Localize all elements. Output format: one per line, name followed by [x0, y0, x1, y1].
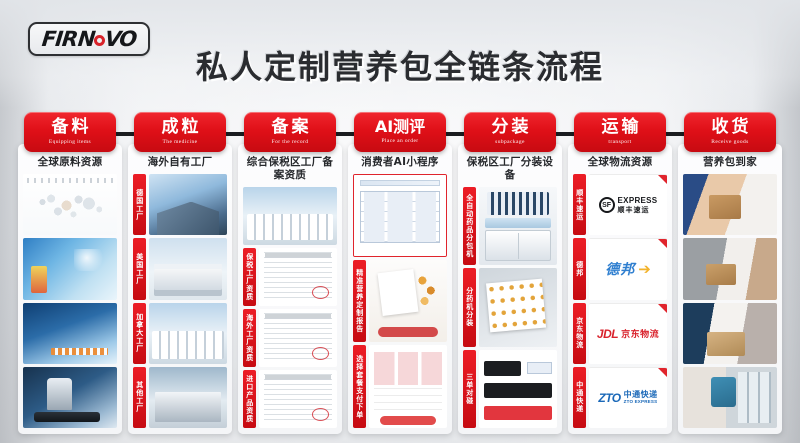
step-badge-6[interactable]: 运输transport	[574, 112, 666, 152]
step-label-cn: 成粒	[159, 119, 202, 136]
card-title: 综合保税区工厂备案资质	[243, 156, 337, 182]
report-sheet	[377, 269, 418, 316]
tile-row: 进口产品资质	[243, 370, 337, 428]
three-order-matching-diagram	[479, 350, 557, 428]
capsules	[414, 268, 442, 318]
tile-row	[683, 238, 777, 299]
step-label-en: Receive goods	[711, 140, 748, 146]
step-label-en: transport	[608, 140, 631, 146]
card-body: 顺丰速运SFEXPRESS顺丰速运德邦德邦➔京东物流JDL京东物流中通快递ZTO…	[573, 174, 667, 428]
card-body: 保税工厂资质海外工厂资质进口产品资质	[243, 187, 337, 428]
automatic-packing-machine	[479, 187, 557, 265]
page-title: 私人定制营养包全链条流程	[0, 42, 800, 88]
tile-row: 德国工厂	[133, 174, 227, 235]
app-flow-boxes	[360, 191, 441, 243]
map-regions	[27, 180, 113, 229]
app-top-bar	[360, 180, 441, 186]
arrow-icon: ➔	[638, 260, 651, 278]
vertical-tab-label[interactable]: 精准营养定制报告	[353, 260, 366, 343]
step-card-7: 营养包到家	[678, 144, 782, 434]
deppon-cn-label: 德邦	[605, 259, 635, 279]
tile-row: 全自动药品分包机	[463, 187, 557, 265]
tile-row	[23, 238, 117, 299]
vertical-tab-label[interactable]: 选择套餐支付下单	[353, 345, 366, 428]
tile-row: 选择套餐支付下单	[353, 345, 447, 428]
step-label-cn: 备料	[49, 119, 92, 136]
zto-express-logo: ZTO中通快递ZTO EXPRESS	[589, 367, 667, 428]
flow-box-3	[484, 383, 553, 399]
delivery-photo-3	[683, 303, 777, 364]
delivery-photo-2	[683, 238, 777, 299]
machine-canister-grid	[487, 192, 549, 215]
lab-pipette-photo	[23, 303, 117, 364]
tile-row	[683, 174, 777, 235]
step-card-1: 全球原料资源	[18, 144, 122, 434]
tile-row: 加拿大工厂	[133, 303, 227, 364]
tile-row	[243, 187, 337, 245]
jdl-en-label: JDL	[597, 327, 618, 341]
canada-factory	[149, 303, 227, 364]
bonded-factory-certificate	[259, 248, 337, 306]
step-card-5: 保税区工厂分装设备全自动药品分包机分药机分装三单对碰	[458, 144, 562, 434]
germany-factory	[149, 174, 227, 235]
sf-mark-icon: SF	[599, 197, 615, 213]
vertical-tab-label[interactable]: 德国工厂	[133, 174, 146, 235]
pipeline-step-3: 备案For the record综合保税区工厂备案资质保税工厂资质海外工厂资质进…	[238, 112, 342, 434]
tile-row: 海外工厂资质	[243, 309, 337, 367]
card-title: 海外自有工厂	[148, 156, 213, 169]
step-badge-1[interactable]: 备料Equipping items	[24, 112, 116, 152]
nutrition-report-screen	[369, 260, 447, 343]
pay-button	[380, 416, 436, 424]
flow-box-1	[484, 361, 521, 377]
pipeline-step-2: 成粒The medicine海外自有工厂德国工厂美国工厂加拿大工厂其他工厂	[128, 112, 232, 434]
report-action-button	[378, 327, 437, 336]
step-label-cn: 收货	[709, 119, 752, 136]
step-label-en: Equipping items	[49, 140, 91, 146]
card-title: 全球物流资源	[588, 156, 653, 169]
card-title: 消费者AI小程序	[361, 156, 438, 169]
vertical-tab-label[interactable]: 加拿大工厂	[133, 303, 146, 364]
ai-assessment-screen	[353, 174, 447, 257]
tile-row: 德邦德邦➔	[573, 238, 667, 299]
sf-express-logo: SFEXPRESS顺丰速运	[589, 174, 667, 235]
card-body	[23, 174, 117, 428]
pipeline-step-1: 备料Equipping items全球原料资源	[18, 112, 122, 434]
pipeline-step-5: 分装subpackage保税区工厂分装设备全自动药品分包机分药机分装三单对碰	[458, 112, 562, 434]
pipeline-step-7: 收货Receive goods营养包到家	[678, 112, 782, 434]
import-product-certificate	[259, 370, 337, 428]
package-tiles	[374, 352, 443, 385]
flow-box-4	[484, 406, 553, 420]
jd-logistics-logo: JDL京东物流	[589, 303, 667, 364]
step-card-6: 全球物流资源顺丰速运SFEXPRESS顺丰速运德邦德邦➔京东物流JDL京东物流中…	[568, 144, 672, 434]
tile-row: 京东物流JDL京东物流	[573, 303, 667, 364]
lab-sampling-photo	[23, 238, 117, 299]
tile-row: 保税工厂资质	[243, 248, 337, 306]
tile-row	[353, 174, 447, 257]
deppon-logo: 德邦➔	[589, 238, 667, 299]
zto-en-label: ZTO	[598, 391, 620, 405]
vertical-tab-label[interactable]: 全自动药品分包机	[463, 187, 476, 265]
card-title: 营养包到家	[703, 156, 757, 169]
pipeline: 备料Equipping items全球原料资源成粒The medicine海外自…	[18, 112, 782, 434]
vertical-tab-label[interactable]: 中通快递	[573, 367, 586, 428]
step-badge-7[interactable]: 收货Receive goods	[684, 112, 776, 152]
vertical-tab-label[interactable]: 美国工厂	[133, 238, 146, 299]
step-label-en: Place an order	[381, 139, 418, 145]
step-label-cn: AI测评	[375, 119, 425, 135]
card-body	[683, 174, 777, 428]
jdl-cn-label: 京东物流	[621, 327, 659, 340]
usa-factory	[149, 238, 227, 299]
package-checkout-screen	[369, 345, 447, 428]
tile-row	[23, 174, 117, 235]
vertical-tab-label[interactable]: 德邦	[573, 238, 586, 299]
step-label-cn: 运输	[599, 119, 642, 136]
tile-row: 美国工厂	[133, 238, 227, 299]
flow-box-2	[527, 362, 552, 374]
vertical-tab-label[interactable]: 海外工厂资质	[243, 309, 256, 367]
step-label-en: For the record	[272, 140, 309, 146]
other-factory	[149, 367, 227, 428]
sachet-sheet	[486, 279, 546, 332]
step-card-4: 消费者AI小程序精准营养定制报告选择套餐支付下单	[348, 144, 452, 434]
machine-panel	[485, 218, 551, 227]
tile-row	[23, 303, 117, 364]
sf-en-label: EXPRESS	[618, 197, 658, 205]
tile-row	[683, 303, 777, 364]
pipeline-step-4: AI测评Place an order消费者AI小程序精准营养定制报告选择套餐支付…	[348, 112, 452, 434]
card-body: 全自动药品分包机分药机分装三单对碰	[463, 187, 557, 428]
card-title: 保税区工厂分装设备	[463, 156, 557, 182]
delivery-photo-4	[683, 367, 777, 428]
delivery-photo-1	[683, 174, 777, 235]
zto-sub-label: ZTO EXPRESS	[624, 400, 658, 405]
step-label-en: subpackage	[495, 140, 525, 146]
card-title: 全球原料资源	[38, 156, 103, 169]
sf-cn-label: 顺丰速运	[618, 207, 658, 214]
step-card-3: 综合保税区工厂备案资质保税工厂资质海外工厂资质进口产品资质	[238, 144, 342, 434]
step-card-2: 海外自有工厂德国工厂美国工厂加拿大工厂其他工厂	[128, 144, 232, 434]
vertical-tab-label[interactable]: 其他工厂	[133, 367, 146, 428]
tile-row: 精准营养定制报告	[353, 260, 447, 343]
step-badge-3[interactable]: 备案For the record	[244, 112, 336, 152]
tile-row	[683, 367, 777, 428]
vertical-tab-label[interactable]: 三单对碰	[463, 350, 476, 428]
tile-row: 三单对碰	[463, 350, 557, 428]
vertical-tab-label[interactable]: 保税工厂资质	[243, 248, 256, 306]
step-label-cn: 分装	[489, 119, 532, 136]
overseas-factory-certificate	[259, 309, 337, 367]
tile-row: 顺丰速运SFEXPRESS顺丰速运	[573, 174, 667, 235]
card-body: 精准营养定制报告选择套餐支付下单	[353, 174, 447, 428]
step-label-cn: 备案	[269, 119, 312, 136]
sachet-strip-output	[479, 268, 557, 346]
tile-row: 其他工厂	[133, 367, 227, 428]
step-badge-5[interactable]: 分装subpackage	[464, 112, 556, 152]
vertical-tab-label[interactable]: 顺丰速运	[573, 174, 586, 235]
machine-cabinet	[485, 230, 551, 261]
microscope-photo	[23, 367, 117, 428]
pipeline-step-6: 运输transport全球物流资源顺丰速运SFEXPRESS顺丰速运德邦德邦➔京…	[568, 112, 672, 434]
vertical-tab-label[interactable]: 京东物流	[573, 303, 586, 364]
step-badge-2[interactable]: 成粒The medicine	[134, 112, 226, 152]
tile-row	[23, 367, 117, 428]
step-badge-4[interactable]: AI测评Place an order	[354, 112, 446, 152]
step-label-en: The medicine	[163, 140, 198, 146]
card-body: 德国工厂美国工厂加拿大工厂其他工厂	[133, 174, 227, 428]
package-rows	[374, 388, 443, 414]
vertical-tab-label[interactable]: 进口产品资质	[243, 370, 256, 428]
tile-row: 中通快递ZTO中通快递ZTO EXPRESS	[573, 367, 667, 428]
vertical-tab-label[interactable]: 分药机分装	[463, 268, 476, 346]
bonded-zone-photo	[243, 187, 337, 245]
tile-row: 分药机分装	[463, 268, 557, 346]
world-raw-material-map	[23, 174, 117, 235]
